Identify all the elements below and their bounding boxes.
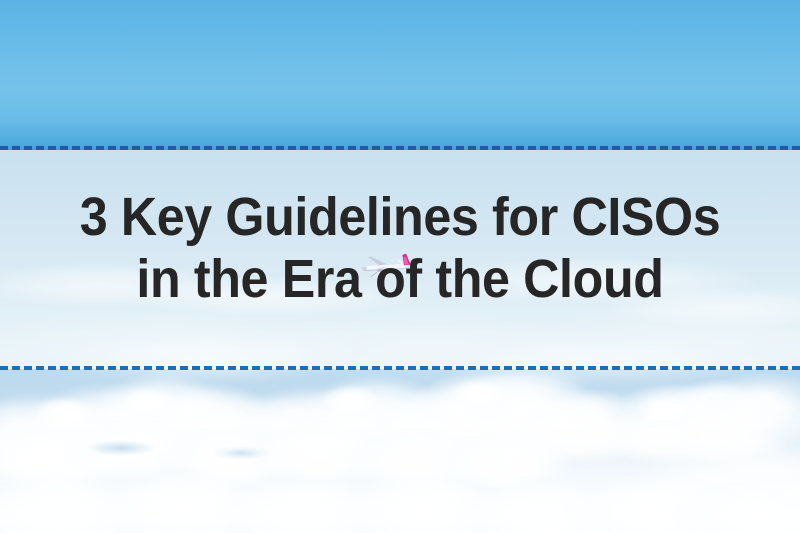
sky-bottom-band [0,369,800,533]
cloud-title-banner: 3 Key Guidelines for CISOs in the Era of… [0,0,800,533]
page-title: 3 Key Guidelines for CISOs in the Era of… [28,186,772,310]
divider-bottom [0,366,800,370]
divider-top [0,146,800,150]
page-title-line-1: 3 Key Guidelines for CISOs [28,186,772,248]
sky-top-band [0,0,800,150]
page-title-line-2: in the Era of the Cloud [28,248,772,310]
